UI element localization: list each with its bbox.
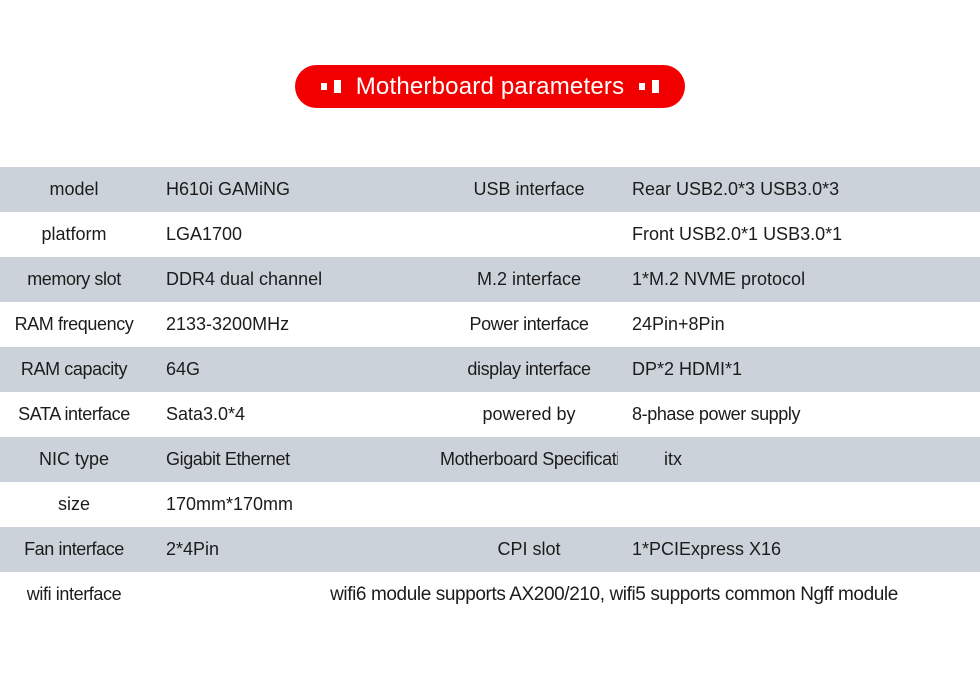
- spec-key-power-interface: Power interface: [440, 302, 618, 347]
- spec-value-usb-front: Front USB2.0*1 USB3.0*1: [618, 212, 980, 257]
- table-row: Fan interface 2*4Pin CPI slot 1*PCIExpre…: [0, 527, 980, 572]
- spec-value-power-interface: 24Pin+8Pin: [618, 302, 980, 347]
- spec-key-ram-frequency: RAM frequency: [0, 302, 152, 347]
- table-row: model H610i GAMiNG USB interface Rear US…: [0, 167, 980, 212]
- spec-value-wifi-interface: wifi6 module supports AX200/210, wifi5 s…: [152, 572, 980, 617]
- spec-key-memory-slot: memory slot: [0, 257, 152, 302]
- spec-key-size: size: [0, 482, 152, 527]
- spec-value-m2-interface: 1*M.2 NVME protocol: [618, 257, 980, 302]
- table-row: SATA interface Sata3.0*4 powered by 8-ph…: [0, 392, 980, 437]
- table-row: platform LGA1700 Front USB2.0*1 USB3.0*1: [0, 212, 980, 257]
- spec-key-wifi-interface: wifi interface: [0, 572, 152, 617]
- page-title: Motherboard parameters: [350, 75, 631, 99]
- spec-value-size: 170mm*170mm: [152, 482, 440, 527]
- specifications-table: model H610i GAMiNG USB interface Rear US…: [0, 167, 980, 617]
- table-row: RAM capacity 64G display interface DP*2 …: [0, 347, 980, 392]
- small-square-icon: [639, 83, 645, 90]
- spec-key-ram-capacity: RAM capacity: [0, 347, 152, 392]
- table-row: size 170mm*170mm: [0, 482, 980, 527]
- spec-value-model: H610i GAMiNG: [152, 167, 440, 212]
- decor-marks-right: [639, 80, 659, 93]
- spec-key-empty: [440, 212, 618, 257]
- tall-square-icon: [334, 80, 341, 93]
- spec-value-cpi-slot: 1*PCIExpress X16: [618, 527, 980, 572]
- spec-value-usb-rear: Rear USB2.0*3 USB3.0*3: [618, 167, 980, 212]
- tall-square-icon: [652, 80, 659, 93]
- spec-key-fan-interface: Fan interface: [0, 527, 152, 572]
- decor-marks-left: [321, 80, 341, 93]
- spec-key-powered-by: powered by: [440, 392, 618, 437]
- spec-key-platform: platform: [0, 212, 152, 257]
- table-row: RAM frequency 2133-3200MHz Power interfa…: [0, 302, 980, 347]
- spec-value-ram-capacity: 64G: [152, 347, 440, 392]
- page-header: Motherboard parameters: [0, 65, 980, 108]
- spec-value-motherboard-specifications: itx: [618, 437, 980, 482]
- spec-key-cpi-slot: CPI slot: [440, 527, 618, 572]
- table-row: memory slot DDR4 dual channel M.2 interf…: [0, 257, 980, 302]
- spec-key-sata-interface: SATA interface: [0, 392, 152, 437]
- spec-value-memory-slot: DDR4 dual channel: [152, 257, 440, 302]
- spec-key-usb-interface: USB interface: [440, 167, 618, 212]
- spec-value-empty: [618, 482, 980, 527]
- spec-value-sata-interface: Sata3.0*4: [152, 392, 440, 437]
- spec-key-motherboard-specifications: Motherboard Specifications: [440, 437, 618, 482]
- spec-value-powered-by: 8-phase power supply: [618, 392, 980, 437]
- spec-value-platform: LGA1700: [152, 212, 440, 257]
- spec-key-m2-interface: M.2 interface: [440, 257, 618, 302]
- spec-key-model: model: [0, 167, 152, 212]
- spec-key-empty: [440, 482, 618, 527]
- spec-key-display-interface: display interface: [440, 347, 618, 392]
- table-row: NIC type Gigabit Ethernet Motherboard Sp…: [0, 437, 980, 482]
- spec-key-nic-type: NIC type: [0, 437, 152, 482]
- spec-value-fan-interface: 2*4Pin: [152, 527, 440, 572]
- title-pill: Motherboard parameters: [295, 65, 686, 108]
- spec-value-ram-frequency: 2133-3200MHz: [152, 302, 440, 347]
- table-row: wifi interface wifi6 module supports AX2…: [0, 572, 980, 617]
- spec-value-nic-type: Gigabit Ethernet: [152, 437, 440, 482]
- small-square-icon: [321, 83, 327, 90]
- spec-value-display-interface: DP*2 HDMI*1: [618, 347, 980, 392]
